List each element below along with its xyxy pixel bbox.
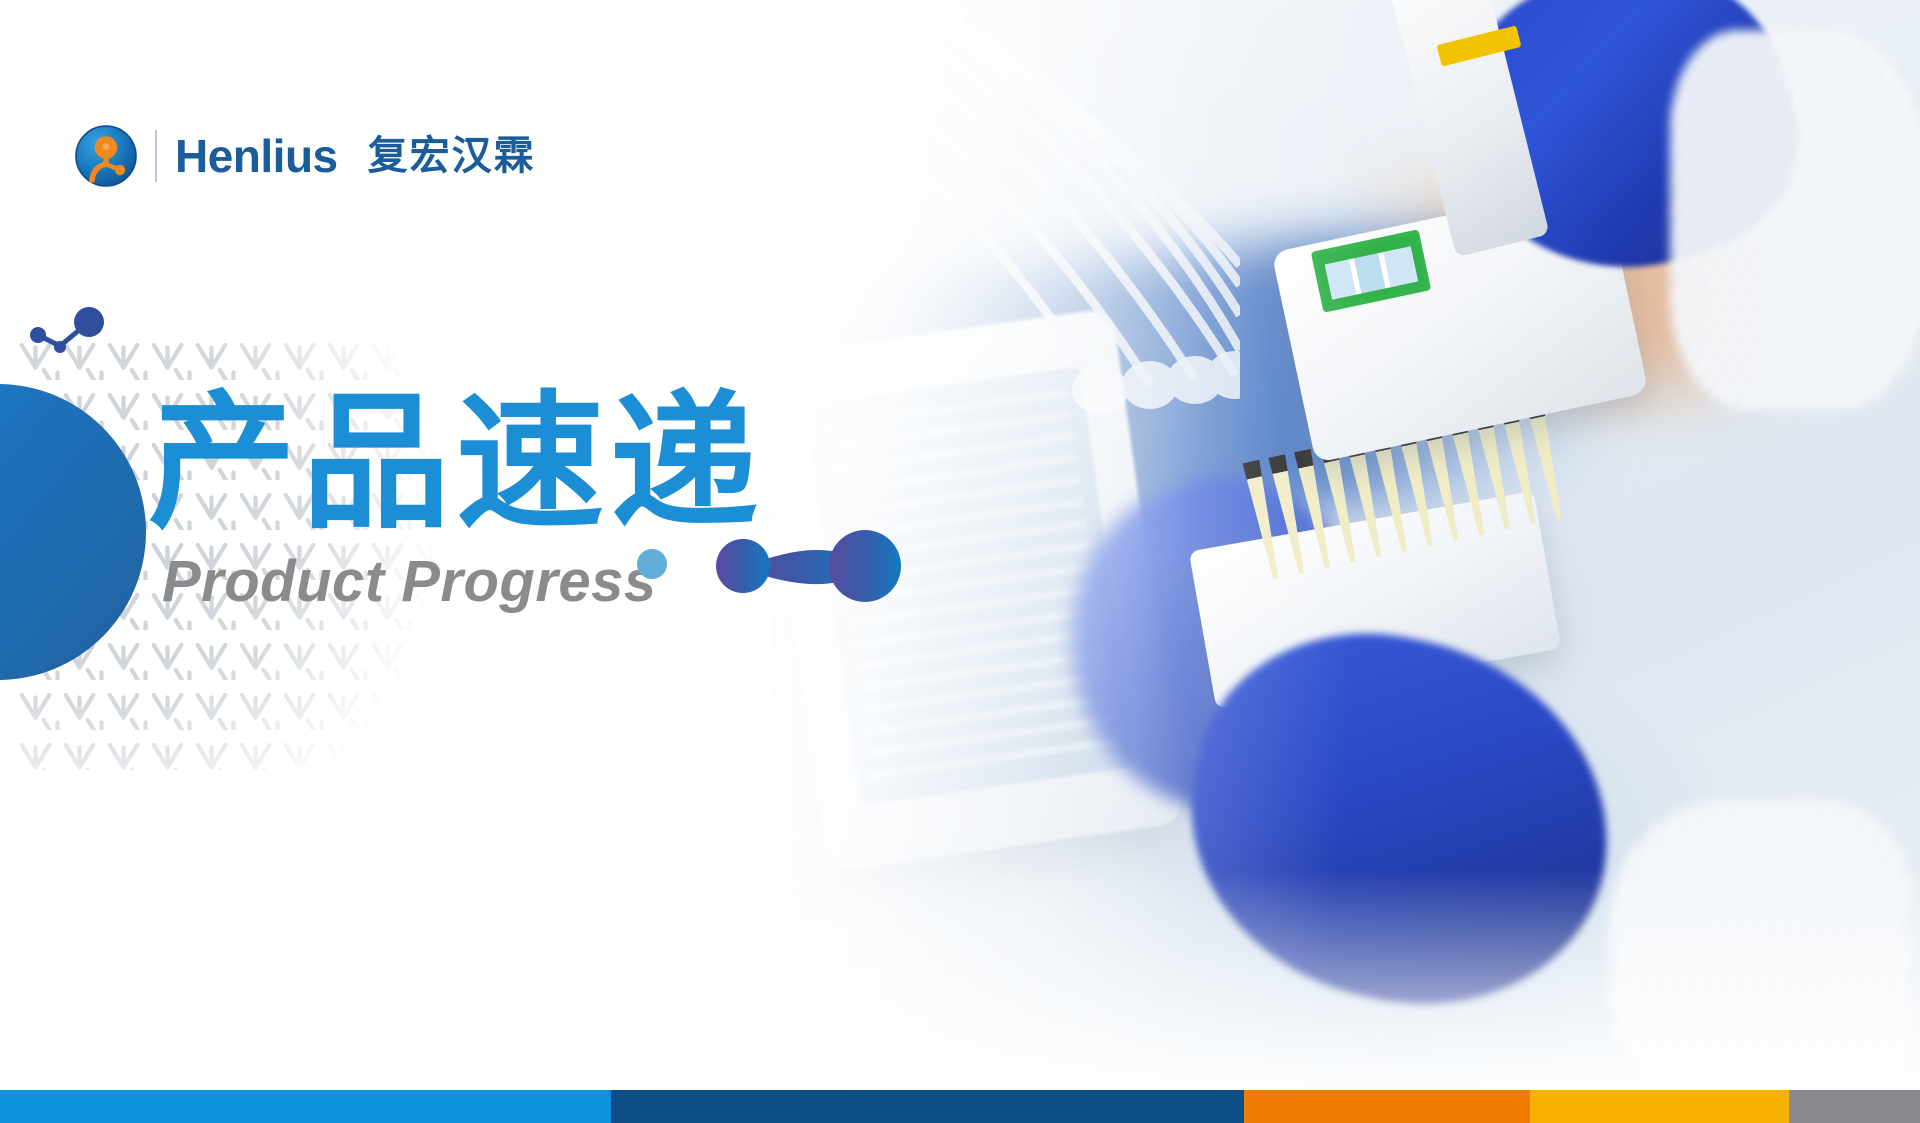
- molecule-dot-link-icon: [22, 306, 112, 370]
- page-title-chinese: 产品速递: [148, 388, 764, 539]
- bar-segment-amber: [1530, 1090, 1789, 1123]
- bar-segment-orange: [1244, 1090, 1530, 1123]
- bar-segment-dark-blue: [611, 1090, 1245, 1123]
- title-block: 产品速递 Product Progress: [148, 388, 764, 611]
- vertical-divider-icon: [155, 130, 157, 182]
- bottom-color-bar: [0, 1090, 1920, 1123]
- henlius-logo[interactable]: Henlius 复宏汉霖: [75, 125, 536, 187]
- small-blue-dot-icon: [637, 549, 667, 579]
- bar-segment-gray: [1789, 1090, 1920, 1123]
- bar-segment-light-blue: [0, 1090, 611, 1123]
- molecule-accent-icon: [705, 530, 917, 602]
- bottom-fade-overlay: [0, 870, 1920, 1090]
- henlius-molecule-logo-icon: [75, 125, 137, 187]
- page-subtitle-english: Product Progress: [162, 553, 764, 611]
- logo-chinese-name: 复宏汉霖: [368, 136, 536, 176]
- title-slide: Henlius 复宏汉霖 产品速递 Product Progress: [0, 0, 1920, 1123]
- logo-wordmark: Henlius: [175, 133, 338, 179]
